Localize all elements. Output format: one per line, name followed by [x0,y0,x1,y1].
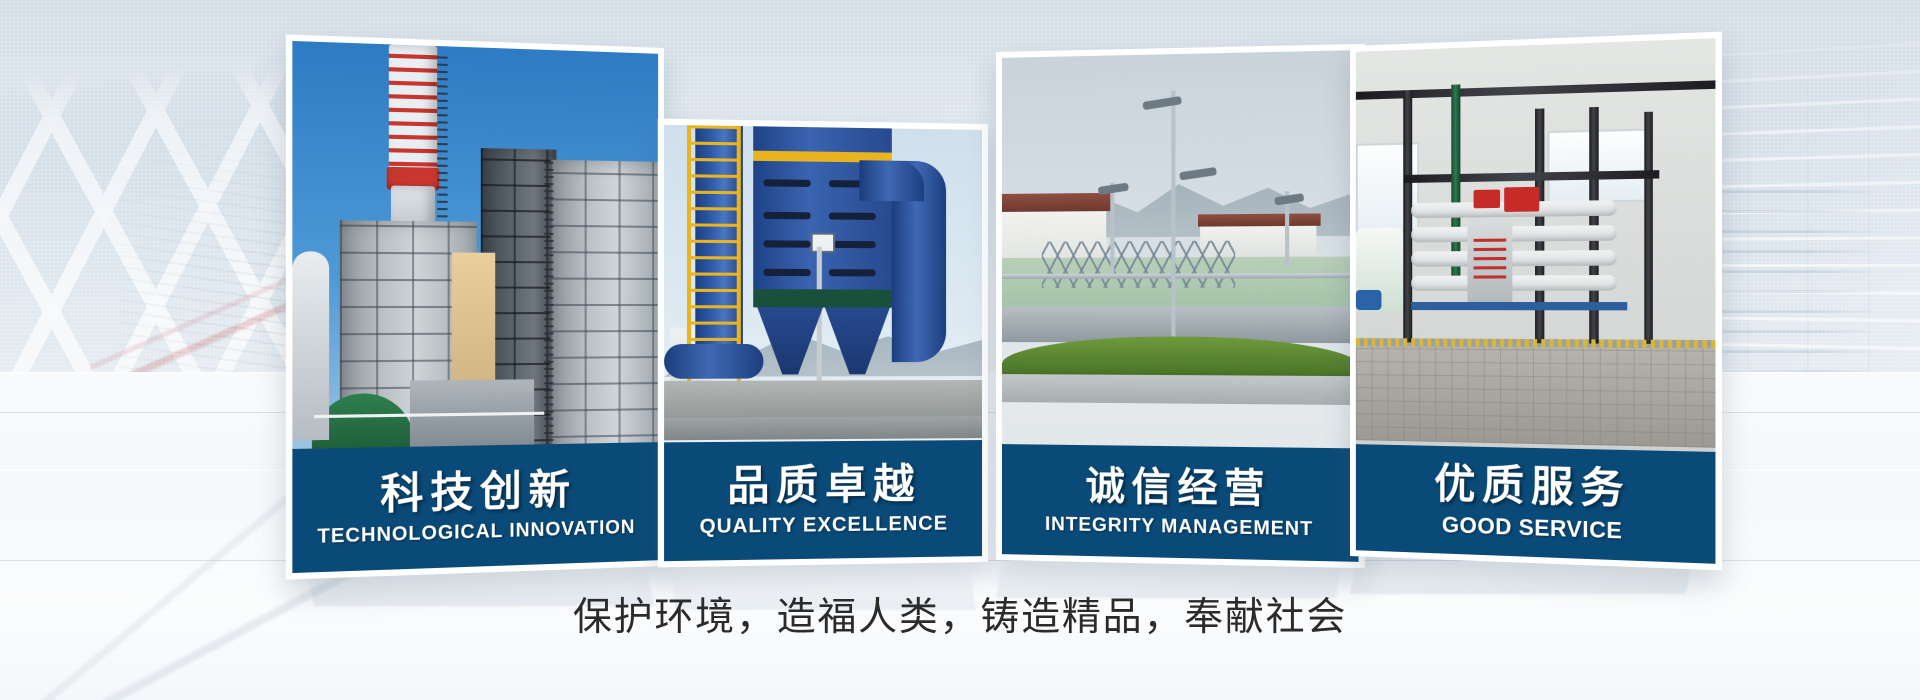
panel-2-caption: 品质卓越 QUALITY EXCELLENCE [664,440,982,561]
panel-2-title-en: QUALITY EXCELLENCE [700,514,948,538]
absorber-tower-right [550,160,658,465]
panel-1-caption: 科技创新 TECHNOLOGICAL INNOVATION [292,442,658,573]
valve-7 [763,269,810,276]
red-label-1 [1474,190,1500,209]
membrane-vessel-3 [1411,250,1616,267]
valve-5 [763,240,810,247]
panel-2-title-cn: 品质卓越 [727,464,921,508]
banner-tagline: 保护环境，造福人类，铸造精品，奉献社会 [0,586,1920,642]
bridge-truss [1042,241,1235,288]
lower-manifold [1411,302,1627,310]
tiled-floor [1356,346,1716,448]
plant-roof-left [1002,193,1112,212]
panel-integrity-management[interactable]: 诚信经营 INTEGRITY MANAGEMENT [996,44,1365,568]
duct-elbow-top [859,160,924,201]
valve-3 [763,212,810,220]
panel-technological-innovation[interactable]: 科技创新 TECHNOLOGICAL INNOVATION [286,34,664,579]
valve-1 [763,179,810,187]
panel-4-title-en: GOOD SERVICE [1442,514,1623,543]
plant-roof-right [1198,213,1321,226]
chimney-ladder [437,56,447,242]
collector-band [753,289,892,308]
panel-3-caption: 诚信经营 INTEGRITY MANAGEMENT [1002,444,1359,562]
silo [292,251,329,440]
valve-6 [829,241,876,248]
panel-2-inner: 品质卓越 QUALITY EXCELLENCE [664,125,982,561]
basin-handrail [1002,273,1359,279]
red-label-2 [1504,187,1539,212]
inlet-duct [664,344,763,379]
panel-quality-excellence[interactable]: 品质卓越 QUALITY EXCELLENCE [658,119,988,568]
tower-ladder [544,162,553,467]
panel-4-title-cn: 优质服务 [1434,463,1630,511]
panel-4-inner: 优质服务 GOOD SERVICE [1356,38,1716,564]
panel-1-title-en: TECHNOLOGICAL INNOVATION [317,517,635,546]
driveway [1002,374,1359,405]
valve-8 [829,269,876,276]
banner-stage: 科技创新 TECHNOLOGICAL INNOVATION [0,0,1920,700]
panel-good-service[interactable]: 优质服务 GOOD SERVICE [1350,32,1722,571]
panel-3-title-en: INTEGRITY MANAGEMENT [1045,514,1313,538]
panel-3-inner: 诚信经营 INTEGRITY MANAGEMENT [1002,50,1359,562]
membrane-vessel-2 [1411,225,1616,242]
panel-1-title-cn: 科技创新 [380,468,576,515]
lamp-post-main [1171,91,1175,377]
panel-4-caption: 优质服务 GOOD SERVICE [1356,444,1716,564]
lamp-post-2 [1110,183,1114,274]
pump [1356,290,1382,310]
vertical-pipe-4 [1644,112,1653,344]
valve-4 [829,212,876,220]
patterned-chimney [389,44,437,178]
window-right [1547,128,1652,203]
membrane-vessel-4 [1411,275,1616,291]
panel-1-inner: 科技创新 TECHNOLOGICAL INNOVATION [292,41,658,573]
control-box [811,233,835,253]
gauge-panel [1474,239,1507,280]
ground [664,416,982,440]
panel-3-title-cn: 诚信经营 [1086,467,1271,510]
